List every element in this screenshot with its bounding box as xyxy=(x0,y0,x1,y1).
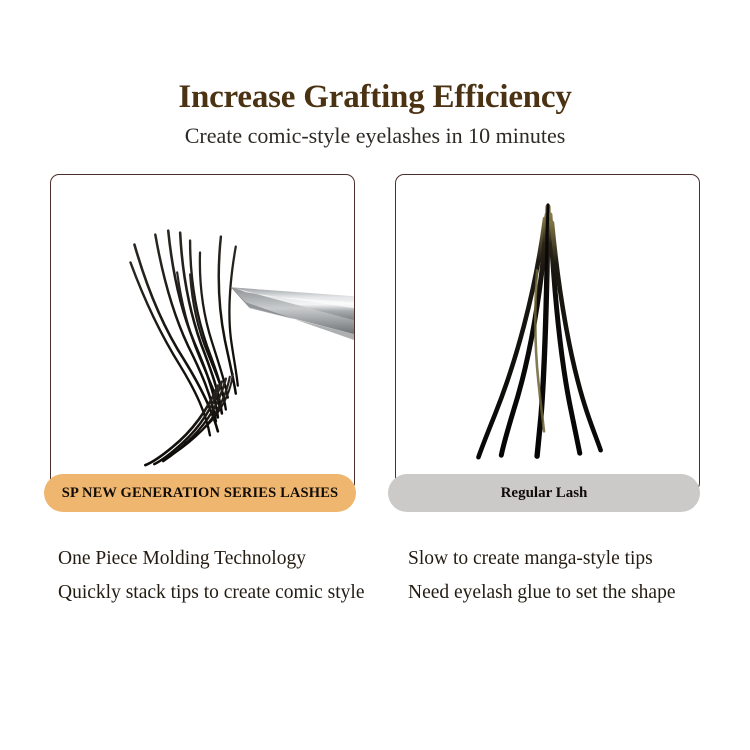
feature-item: Slow to create manga-style tips xyxy=(408,542,738,576)
regular-lash-fan-illustration xyxy=(396,175,699,491)
page-subtitle: Create comic-style eyelashes in 10 minut… xyxy=(0,122,750,150)
badge-sp-new-generation[interactable]: SP NEW GENERATION SERIES LASHES xyxy=(44,474,356,512)
feature-item: Need eyelash glue to set the shape xyxy=(408,576,738,610)
card-sp-new-generation xyxy=(50,174,355,492)
page-title: Increase Grafting Efficiency xyxy=(0,78,750,116)
feature-item: Quickly stack tips to create comic style xyxy=(58,576,388,610)
promo-comparison-page: Increase Grafting Efficiency Create comi… xyxy=(0,0,750,750)
card-regular-lash xyxy=(395,174,700,492)
feature-list-sp-new-generation: One Piece Molding Technology Quickly sta… xyxy=(58,542,388,610)
comparison-cards xyxy=(50,174,700,494)
feature-list-regular-lash: Slow to create manga-style tips Need eye… xyxy=(408,542,738,610)
lash-fan-with-tweezers-illustration xyxy=(51,175,354,491)
feature-lists: One Piece Molding Technology Quickly sta… xyxy=(0,542,750,632)
feature-item: One Piece Molding Technology xyxy=(58,542,388,576)
badge-regular-lash[interactable]: Regular Lash xyxy=(388,474,700,512)
header: Increase Grafting Efficiency Create comi… xyxy=(0,78,750,150)
